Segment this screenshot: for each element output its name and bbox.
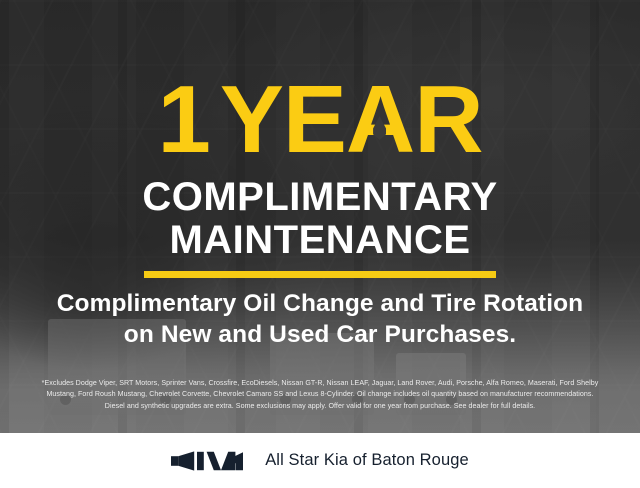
offer-tagline-line-1: Complimentary Oil Change and Tire Rotati…: [57, 290, 583, 317]
hero-section: 1YEAR COMPLIMENTARY MAINTENANCE Complime…: [0, 0, 640, 433]
disclaimer-line-3: Diesel and synthetic upgrades are extra.…: [14, 401, 626, 412]
headline-one-year: 1YEAR: [0, 72, 640, 168]
subheadline-line-2: MAINTENANCE: [0, 219, 640, 262]
offer-tagline: Complimentary Oil Change and Tire Rotati…: [0, 288, 640, 350]
offer-tagline-line-2: on New and Used Car Purchases.: [124, 321, 516, 348]
headline-letter-a-oil-drop: A: [346, 72, 414, 168]
subheadline-line-1: COMPLIMENTARY: [142, 175, 497, 219]
yellow-divider-bar: [144, 271, 496, 278]
headline-word-part2: R: [414, 66, 482, 173]
kia-logo-icon: [171, 451, 243, 471]
disclaimer-line-1: *Excludes Dodge Viper, SRT Motors, Sprin…: [14, 378, 626, 389]
footer-bar: All Star Kia of Baton Rouge: [0, 433, 640, 488]
disclaimer-text: *Excludes Dodge Viper, SRT Motors, Sprin…: [14, 378, 626, 412]
headline-word-part1: YE: [220, 66, 346, 173]
disclaimer-line-2: Mustang, Ford Roush Mustang, Chevrolet C…: [14, 389, 626, 400]
dealer-name: All Star Kia of Baton Rouge: [265, 451, 469, 470]
subheadline: COMPLIMENTARY MAINTENANCE: [0, 176, 640, 262]
headline-number: 1: [157, 66, 209, 173]
hero-content: 1YEAR COMPLIMENTARY MAINTENANCE Complime…: [0, 0, 640, 433]
promotional-ad-banner: 1YEAR COMPLIMENTARY MAINTENANCE Complime…: [0, 0, 640, 488]
